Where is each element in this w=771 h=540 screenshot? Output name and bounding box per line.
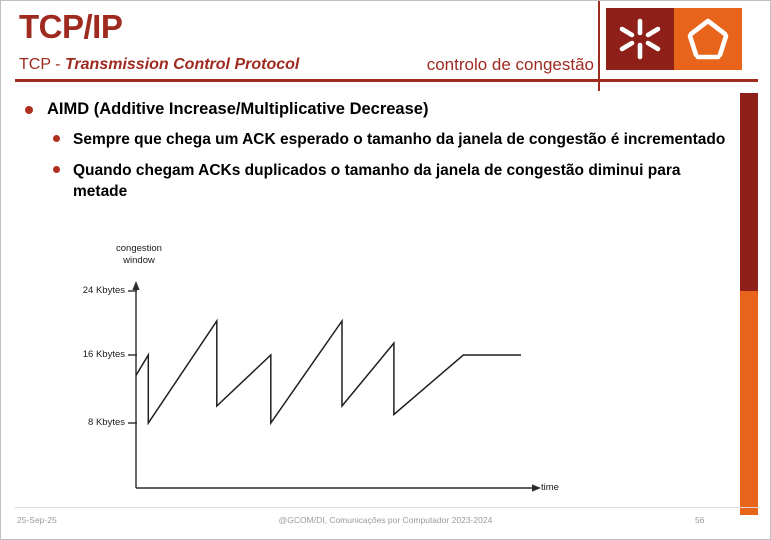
footer-credit: @GCOM/DI, Comunicações por Computador 20…: [279, 515, 493, 525]
bullet-text: Sempre que chega um ACK esperado o taman…: [73, 131, 725, 148]
bullet-text: Quando chegam ACKs duplicados o tamanho …: [73, 162, 680, 200]
slide-header: TCP/IP TCP - Transmission Control Protoc…: [1, 1, 771, 93]
subtitle-emphasis: Transmission Control Protocol: [65, 56, 299, 73]
chart-y-axis-title: congestion window: [101, 243, 177, 267]
bullet-item: AIMD (Additive Increase/Multiplicative D…: [19, 99, 732, 120]
bullet-dot-icon: [25, 106, 33, 114]
slide: TCP/IP TCP - Transmission Control Protoc…: [0, 0, 771, 540]
bullet-text: AIMD (Additive Increase/Multiplicative D…: [47, 100, 428, 118]
side-accent-bar-orange: [740, 291, 758, 515]
subtitle: TCP - Transmission Control Protocol: [19, 56, 299, 74]
chart-y-axis-title-line2: window: [101, 255, 177, 267]
chart-ytick-label: 24 Kbytes: [65, 285, 125, 296]
footer-date: 25-Sep-25: [17, 515, 57, 525]
chart-y-axis-arrow: [132, 281, 139, 290]
chart-x-axis-label: time: [541, 482, 559, 493]
chart-ytick-label: 16 Kbytes: [65, 349, 125, 360]
bullet-dot-icon: [53, 135, 60, 142]
slide-body: AIMD (Additive Increase/Multiplicative D…: [1, 93, 732, 202]
pentagon-outline-icon: [674, 8, 742, 70]
subtitle-prefix: TCP -: [19, 56, 65, 73]
university-asterisk-icon: [606, 8, 674, 70]
footer-page-number: 56: [695, 515, 704, 525]
side-accent-bar-dark: [740, 93, 758, 291]
bullet-dot-icon: [53, 166, 60, 173]
bullet-item: Sempre que chega um ACK esperado o taman…: [45, 129, 732, 150]
chart-series-line: [136, 321, 521, 423]
bullet-item: Quando chegam ACKs duplicados o tamanho …: [45, 160, 732, 202]
chart-x-axis-arrow: [532, 484, 541, 491]
page-title: TCP/IP: [19, 8, 122, 46]
header-horizontal-divider: [15, 79, 758, 82]
header-topic: controlo de congestão: [427, 55, 594, 75]
footer-divider: [15, 507, 758, 508]
chart-ytick-label: 8 Kbytes: [65, 417, 125, 428]
chart-y-axis-title-line1: congestion: [101, 243, 177, 255]
header-vertical-divider: [598, 1, 600, 91]
university-logo: [606, 8, 742, 70]
